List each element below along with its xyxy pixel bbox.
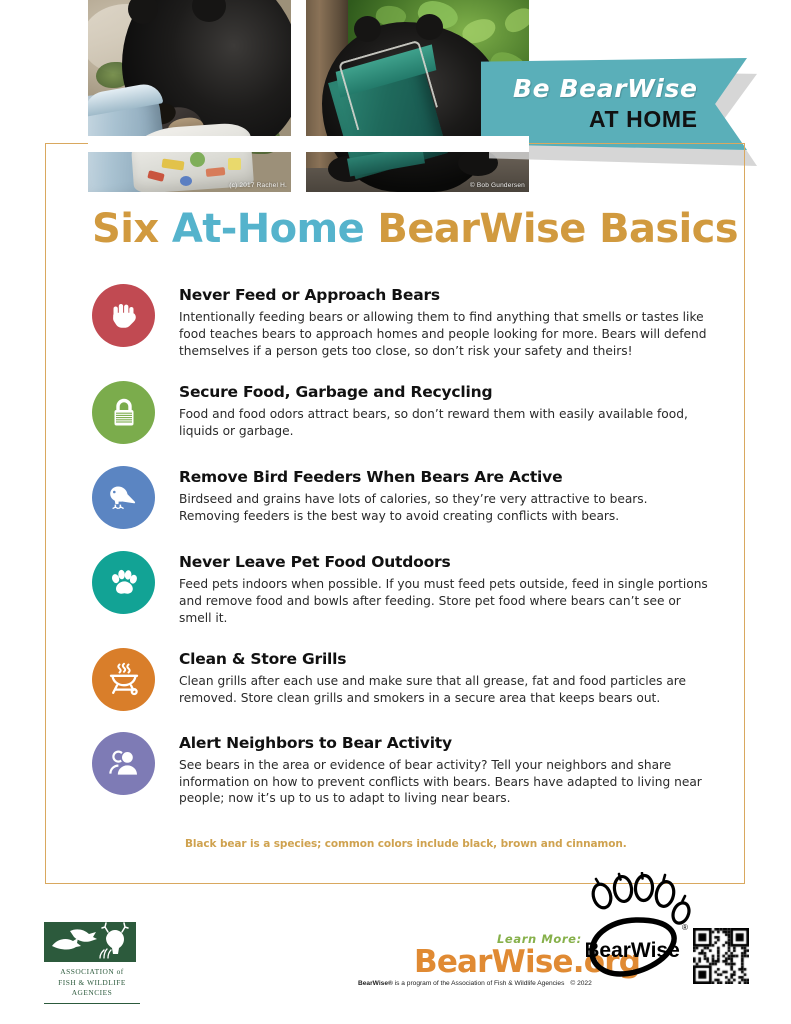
list-item-text: Feed pets indoors when possible. If you … bbox=[179, 576, 712, 626]
photo-bear-in-garbage: (c) 2017 Rachel H. bbox=[88, 0, 291, 192]
list-item-text: Intentionally feeding bears or allowing … bbox=[179, 309, 712, 359]
bearwise-basics-list: Never Feed or Approach Bears Intentional… bbox=[92, 284, 712, 807]
list-item-title: Alert Neighbors to Bear Activity bbox=[179, 734, 712, 752]
afwa-logo: ASSOCIATION of FISH & WILDLIFE AGENCIES bbox=[44, 922, 156, 1004]
banner-title-line1: Be BearWise bbox=[513, 74, 698, 103]
svg-text:®: ® bbox=[682, 923, 688, 932]
list-item-body: Clean & Store Grills Clean grills after … bbox=[179, 648, 712, 707]
paw-logo-label: BearWise bbox=[586, 939, 680, 962]
list-item-body: Remove Bird Feeders When Bears Are Activ… bbox=[179, 466, 712, 525]
list-item: Never Leave Pet Food Outdoors Feed pets … bbox=[92, 551, 712, 626]
afwa-line-2: FISH & WILDLIFE bbox=[44, 978, 140, 989]
photo-credit: (c) 2017 Rachel H. bbox=[229, 182, 287, 189]
afwa-rule bbox=[44, 1003, 140, 1004]
list-item: Never Feed or Approach Bears Intentional… bbox=[92, 284, 712, 359]
list-item-text: Clean grills after each use and make sur… bbox=[179, 673, 712, 707]
page-title-part1: Six bbox=[92, 206, 172, 252]
banner-title-line2: AT HOME bbox=[589, 106, 698, 133]
list-item-text: Food and food odors attract bears, so do… bbox=[179, 406, 712, 440]
afwa-line-1: ASSOCIATION of bbox=[44, 967, 140, 978]
list-item-text: Birdseed and grains have lots of calorie… bbox=[179, 491, 712, 525]
page-title-part3: BearWise Basics bbox=[364, 206, 738, 252]
photo-credit: © Bob Gundersen bbox=[470, 182, 525, 189]
fineprint-rest: is a program of the Association of Fish … bbox=[393, 980, 565, 987]
list-item-title: Remove Bird Feeders When Bears Are Activ… bbox=[179, 468, 712, 486]
fineprint: BearWise® is a program of the Associatio… bbox=[358, 980, 592, 987]
neighbors-icon bbox=[92, 732, 155, 795]
page-title: Six At-Home BearWise Basics bbox=[92, 206, 738, 252]
stop-hand-icon bbox=[92, 284, 155, 347]
list-item: Clean & Store Grills Clean grills after … bbox=[92, 648, 712, 711]
list-item: Remove Bird Feeders When Bears Are Activ… bbox=[92, 466, 712, 529]
list-item-body: Secure Food, Garbage and Recycling Food … bbox=[179, 381, 712, 440]
qr-code[interactable] bbox=[693, 928, 749, 984]
list-item: Secure Food, Garbage and Recycling Food … bbox=[92, 381, 712, 444]
list-item-title: Never Feed or Approach Bears bbox=[179, 286, 712, 304]
list-item-body: Alert Neighbors to Bear Activity See bea… bbox=[179, 732, 712, 807]
frame-top-mask bbox=[88, 136, 529, 152]
list-item: Alert Neighbors to Bear Activity See bea… bbox=[92, 732, 712, 807]
list-item-title: Never Leave Pet Food Outdoors bbox=[179, 553, 712, 571]
photo-left-artwork bbox=[88, 0, 291, 192]
list-item-body: Never Feed or Approach Bears Intentional… bbox=[179, 284, 712, 359]
afwa-wildlife-emblem-icon bbox=[44, 922, 136, 962]
bird-icon bbox=[92, 466, 155, 529]
bearwise-paw-logo-icon: BearWise ® bbox=[586, 872, 698, 984]
species-footnote: Black bear is a species; common colors i… bbox=[185, 838, 627, 850]
paw-print-icon bbox=[92, 551, 155, 614]
afwa-logo-text: ASSOCIATION of FISH & WILDLIFE AGENCIES bbox=[44, 967, 140, 999]
list-item-title: Clean & Store Grills bbox=[179, 650, 712, 668]
list-item-text: See bears in the area or evidence of bea… bbox=[179, 757, 712, 807]
list-item-title: Secure Food, Garbage and Recycling bbox=[179, 383, 712, 401]
list-item-body: Never Leave Pet Food Outdoors Feed pets … bbox=[179, 551, 712, 626]
padlock-icon bbox=[92, 381, 155, 444]
grill-icon bbox=[92, 648, 155, 711]
fineprint-brand: BearWise® bbox=[358, 980, 393, 987]
afwa-line-3: AGENCIES bbox=[44, 988, 140, 999]
page-title-part2: At-Home bbox=[172, 206, 364, 252]
